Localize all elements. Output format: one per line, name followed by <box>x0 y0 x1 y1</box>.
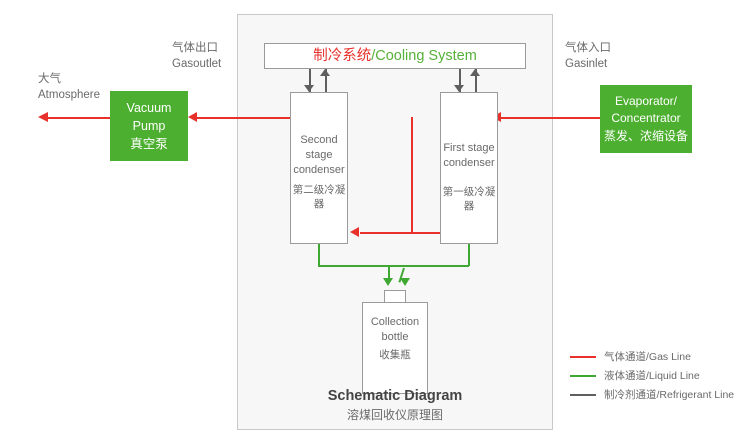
diagram-title: Schematic Diagram 溶煤回收仪原理图 <box>237 386 553 424</box>
gas-line-interstage-vertical <box>411 117 413 233</box>
diagram-title-cn: 溶煤回收仪原理图 <box>237 406 553 424</box>
collection-bottle[interactable]: Collection bottle 收集瓶 <box>362 302 428 394</box>
collection-bottle-label-cn: 收集瓶 <box>363 348 427 362</box>
cooling-system-label-en: /Cooling System <box>371 48 477 64</box>
liquid-line-manifold <box>318 265 469 267</box>
legend-swatch-liquid-line <box>570 375 596 377</box>
gas-inlet-label: 气体入口 Gasinlet <box>565 40 611 72</box>
second-stage-condenser-label-cn: 第二级冷凝器 <box>291 183 347 211</box>
liquid-arrow-to-bottle <box>383 278 393 286</box>
gas-inlet-label-cn: 气体入口 <box>565 40 611 56</box>
cooling-system-unit[interactable]: 制冷系统/Cooling System <box>264 43 526 69</box>
first-stage-condenser[interactable]: First stage condenser 第一级冷凝器 <box>440 92 498 244</box>
diagram-title-en: Schematic Diagram <box>237 386 553 406</box>
legend-label-refrigerant-line: 制冷剂通道/Refrigerant Line <box>604 387 734 402</box>
vacuum-pump-label-en: Vacuum Pump <box>110 99 188 135</box>
evaporator-concentrator[interactable]: Evaporator/ Concentrator 蒸发、浓缩设备 <box>600 85 692 153</box>
liquid-line-second-stage-drop <box>318 244 320 266</box>
refrigerant-arrow-second-stage <box>304 85 314 92</box>
gas-arrow-to-pump <box>188 112 197 122</box>
second-stage-condenser[interactable]: Second stage condenser 第二级冷凝器 <box>290 92 348 244</box>
second-stage-condenser-label-en: Second stage condenser <box>291 133 347 178</box>
legend-label-liquid-line: 液体通道/Liquid Line <box>604 368 700 383</box>
diagram-canvas: 制冷系统/Cooling System Second stage condens… <box>0 0 750 434</box>
first-stage-condenser-label-cn: 第一级冷凝器 <box>441 185 497 213</box>
legend-swatch-gas-line <box>570 356 596 358</box>
cooling-system-label-cn: 制冷系统 <box>313 48 371 64</box>
legend-row-gas: 气体通道/Gas Line <box>570 347 745 366</box>
gas-arrow-to-atmosphere <box>38 112 48 122</box>
atmosphere-label: 大气 Atmosphere <box>38 71 100 103</box>
gas-inlet-label-en: Gasinlet <box>565 56 611 72</box>
vacuum-pump[interactable]: Vacuum Pump 真空泵 <box>110 91 188 161</box>
collection-bottle-label-en: Collection bottle <box>363 315 427 345</box>
first-stage-condenser-label-en: First stage condenser <box>441 141 497 171</box>
gas-line-inlet <box>500 117 600 119</box>
refrigerant-arrow-up-second-stage <box>320 69 330 76</box>
gas-outlet-label-cn: 气体出口 <box>172 40 221 56</box>
gas-arrow-second-stage <box>350 227 359 237</box>
legend-swatch-refrigerant-line <box>570 394 596 396</box>
atmosphere-label-cn: 大气 <box>38 71 100 87</box>
legend-label-gas-line: 气体通道/Gas Line <box>604 349 691 364</box>
refrigerant-arrow-up-first-stage <box>470 69 480 76</box>
refrigerant-arrow-first-stage <box>454 85 464 92</box>
gas-outlet-label-en: Gasoutlet <box>172 56 221 72</box>
legend-row-refrigerant: 制冷剂通道/Refrigerant Line <box>570 385 745 404</box>
gas-line-to-pump <box>196 117 290 119</box>
liquid-line-first-stage-drop <box>468 244 470 266</box>
cooling-system-label: 制冷系统/Cooling System <box>313 49 477 64</box>
gas-line-to-atmosphere <box>48 117 110 119</box>
gas-line-interstage-horizontal-left <box>360 232 412 234</box>
atmosphere-label-en: Atmosphere <box>38 87 100 103</box>
liquid-arrow-to-bottle-secondary <box>400 278 410 286</box>
legend: 气体通道/Gas Line 液体通道/Liquid Line 制冷剂通道/Ref… <box>570 347 745 404</box>
gas-outlet-label: 气体出口 Gasoutlet <box>172 40 221 72</box>
evaporator-label-cn: 蒸发、浓缩设备 <box>600 128 692 145</box>
vacuum-pump-label-cn: 真空泵 <box>110 135 188 153</box>
evaporator-label-en: Evaporator/ Concentrator <box>600 93 692 128</box>
legend-row-liquid: 液体通道/Liquid Line <box>570 366 745 385</box>
